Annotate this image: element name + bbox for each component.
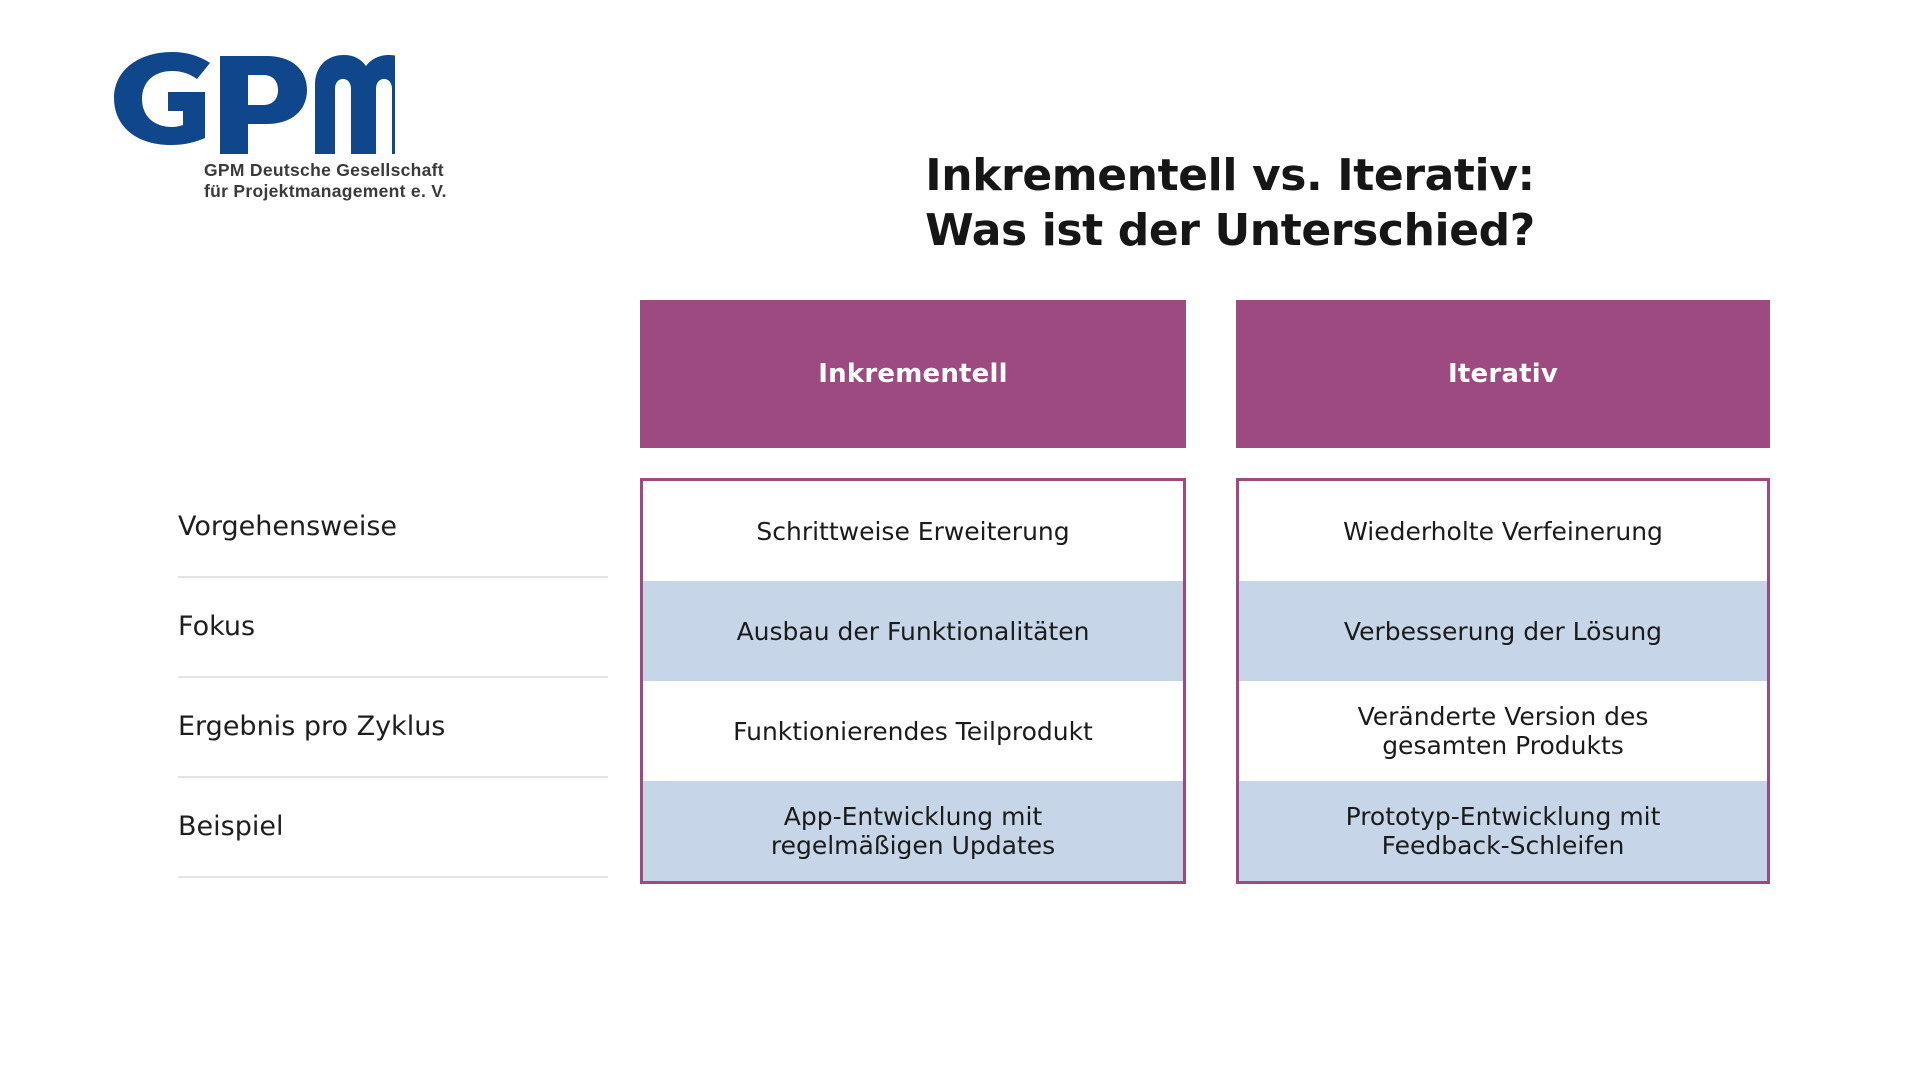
row-label-text: Fokus <box>178 611 255 643</box>
gpm-logo-icon <box>110 48 395 156</box>
table-cell: Verbesserung der Lösung <box>1239 581 1767 681</box>
row-label-vorgehensweise: Vorgehensweise <box>178 478 608 578</box>
table-cell: Ausbau der Funktionalitäten <box>643 581 1183 681</box>
row-label-beispiel: Beispiel <box>178 778 608 878</box>
table-cell: Veränderte Version des gesamten Produkts <box>1239 681 1767 781</box>
column-header-text: Iterativ <box>1448 359 1558 389</box>
row-label-ergebnis-pro-zyklus: Ergebnis pro Zyklus <box>178 678 608 778</box>
page-title: Inkrementell vs. Iterativ: Was ist der U… <box>640 149 1820 257</box>
cell-text: Wiederholte Verfeinerung <box>1343 517 1663 546</box>
cell-text: App-Entwicklung mit regelmäßigen Updates <box>771 802 1055 860</box>
column-header-iterativ: Iterativ <box>1236 300 1770 448</box>
table-cell: Wiederholte Verfeinerung <box>1239 481 1767 581</box>
cell-text: Funktionierendes Teilprodukt <box>733 717 1093 746</box>
table-cell: Prototyp-Entwicklung mit Feedback-Schlei… <box>1239 781 1767 881</box>
row-label-column: Vorgehensweise Fokus Ergebnis pro Zyklus… <box>178 478 608 878</box>
column-header-text: Inkrementell <box>818 359 1007 389</box>
table-cell: Schrittweise Erweiterung <box>643 481 1183 581</box>
cell-text: Ausbau der Funktionalitäten <box>737 617 1090 646</box>
row-label-fokus: Fokus <box>178 578 608 678</box>
comparison-column-iterativ: Iterativ Wiederholte Verfeinerung Verbes… <box>1236 300 1770 884</box>
column-body-iterativ: Wiederholte Verfeinerung Verbesserung de… <box>1236 478 1770 884</box>
comparison-column-inkrementell: Inkrementell Schrittweise Erweiterung Au… <box>640 300 1186 884</box>
cell-text: Schrittweise Erweiterung <box>756 517 1069 546</box>
gpm-logo: GPM Deutsche Gesellschaft für Projektman… <box>108 48 468 208</box>
column-body-inkrementell: Schrittweise Erweiterung Ausbau der Funk… <box>640 478 1186 884</box>
row-label-text: Beispiel <box>178 811 283 843</box>
column-header-inkrementell: Inkrementell <box>640 300 1186 448</box>
logo-tagline: GPM Deutsche Gesellschaft für Projektman… <box>204 160 468 201</box>
cell-text: Verbesserung der Lösung <box>1344 617 1662 646</box>
row-label-text: Vorgehensweise <box>178 511 397 543</box>
table-cell: Funktionierendes Teilprodukt <box>643 681 1183 781</box>
cell-text: Veränderte Version des gesamten Produkts <box>1358 702 1649 760</box>
row-label-text: Ergebnis pro Zyklus <box>178 711 445 743</box>
table-cell: App-Entwicklung mit regelmäßigen Updates <box>643 781 1183 881</box>
cell-text: Prototyp-Entwicklung mit Feedback-Schlei… <box>1346 802 1661 860</box>
